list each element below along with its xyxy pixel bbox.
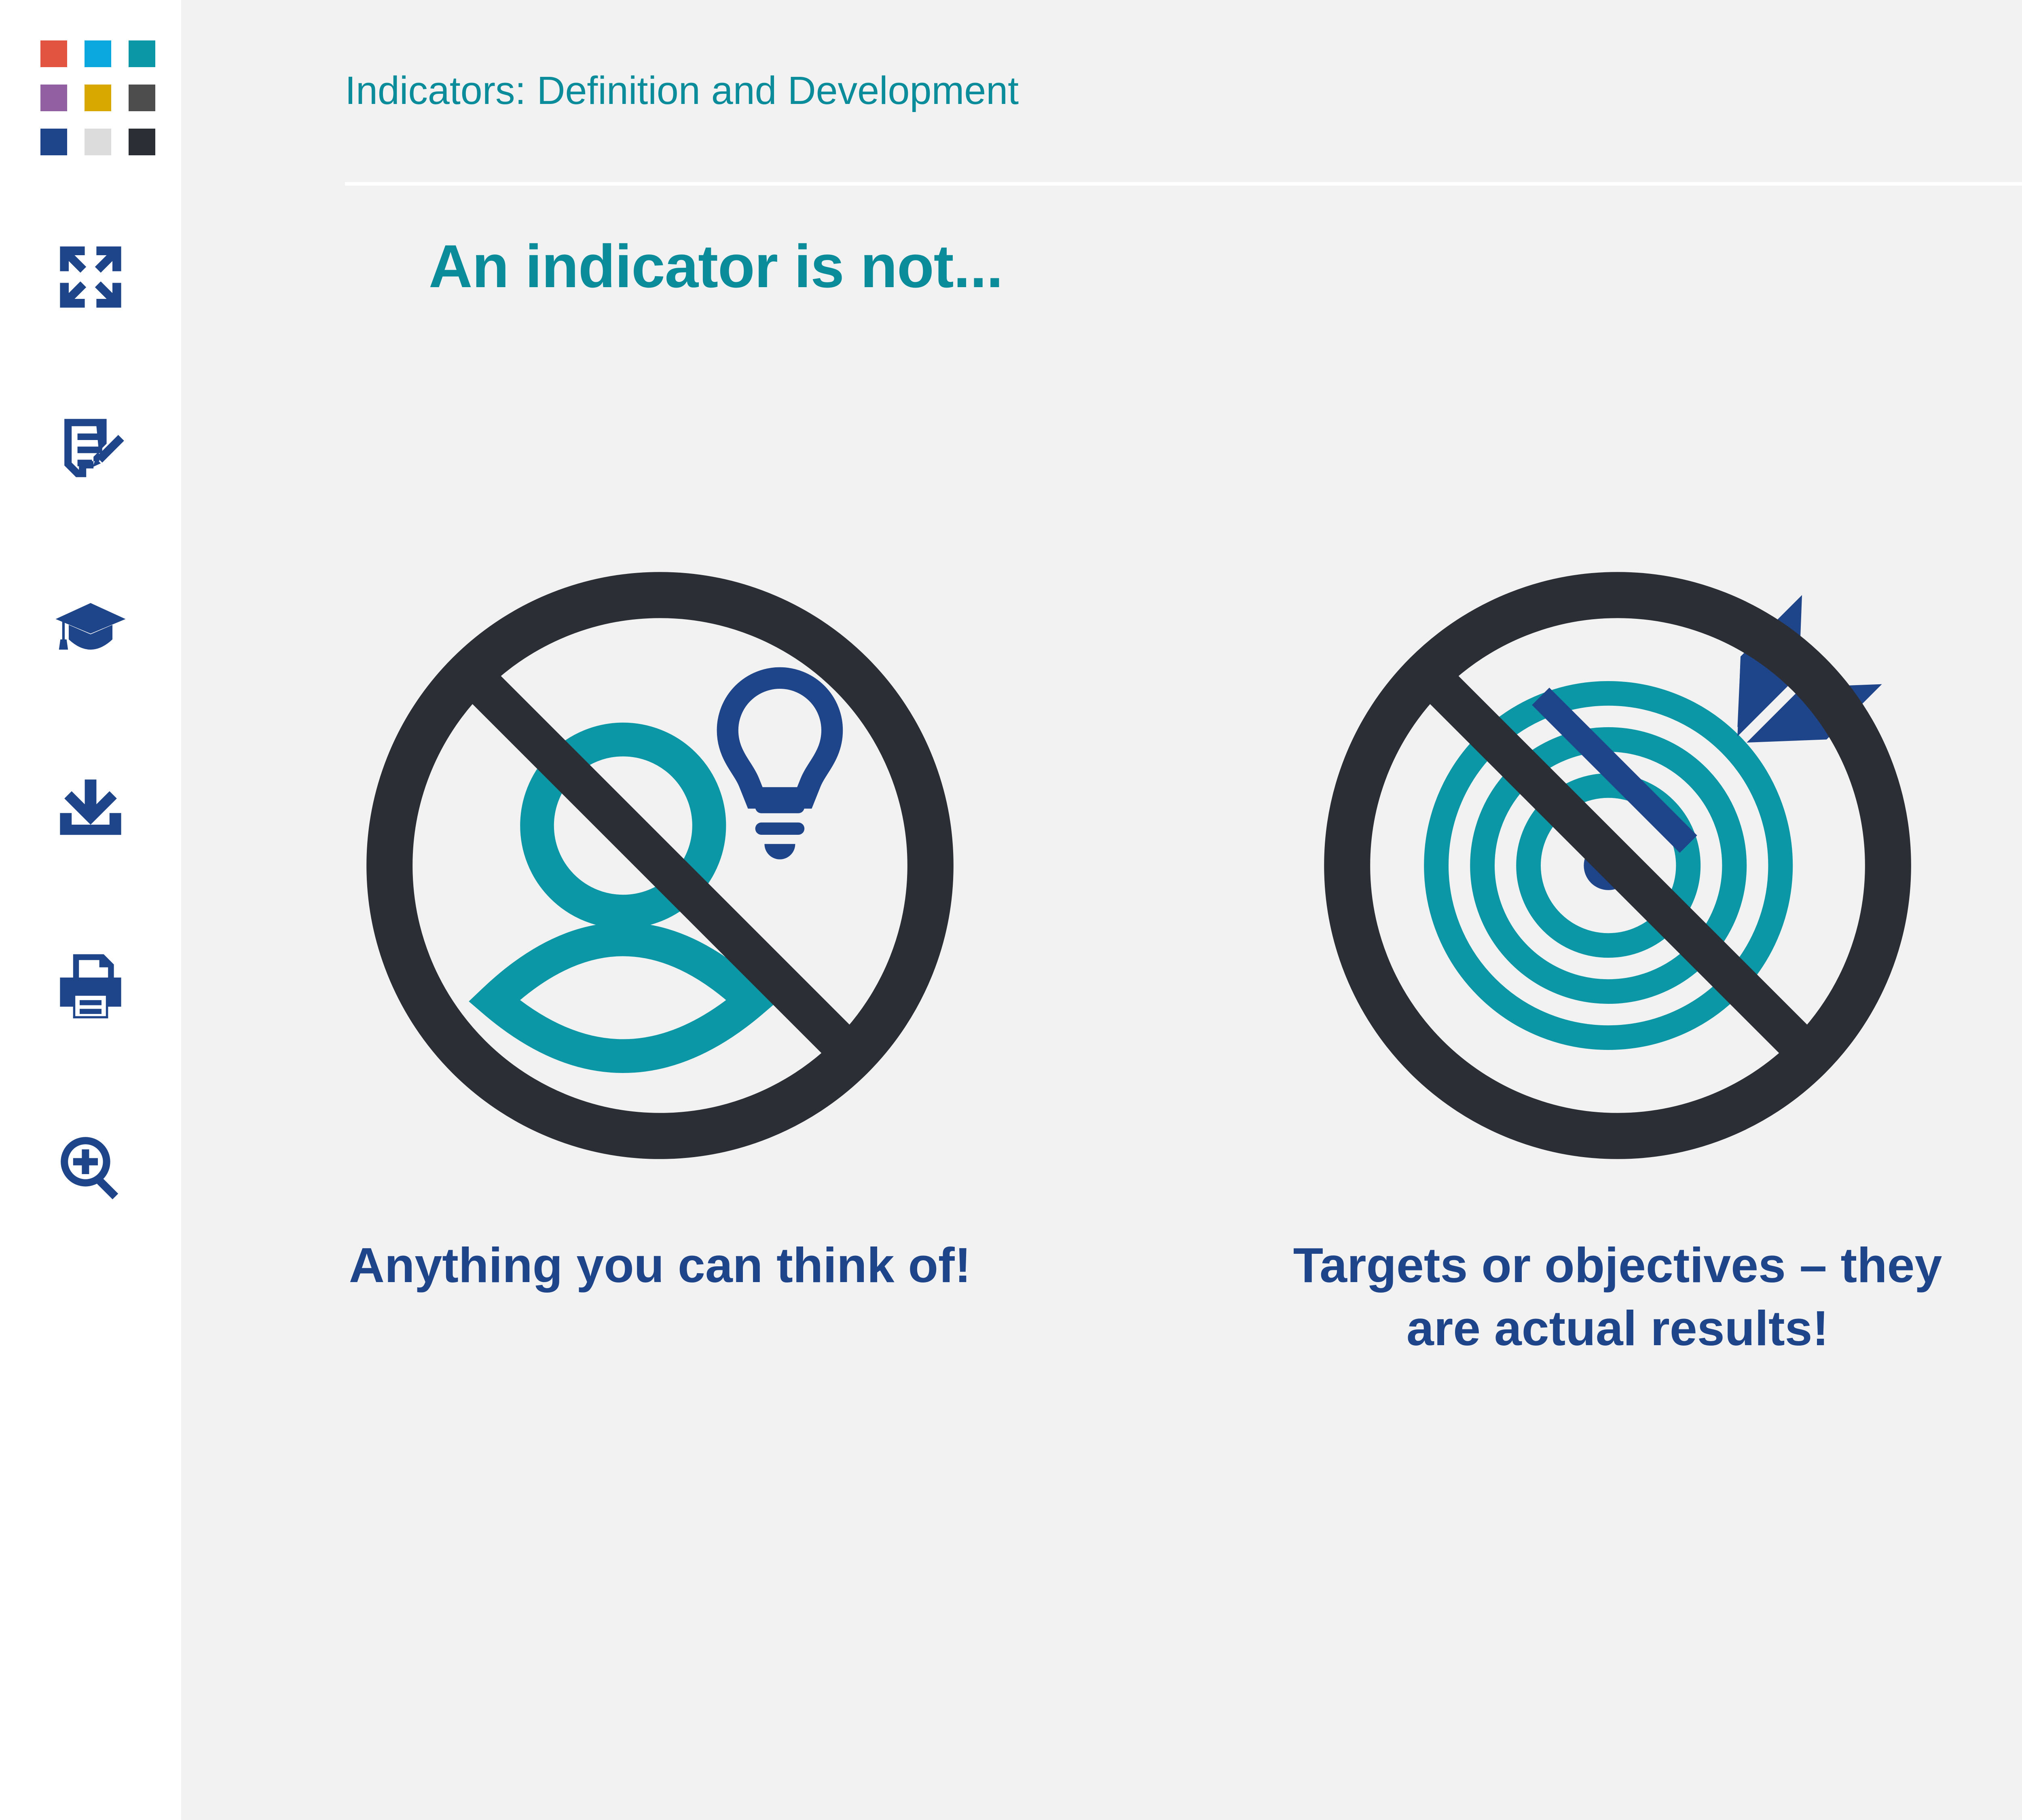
slide-viewer-app: Indicators: Definition and Development S… (0, 0, 2022, 1820)
tool-button-download[interactable] (0, 756, 181, 849)
logo-swatch-1 (85, 40, 111, 67)
tool-button-course[interactable] (0, 578, 181, 671)
logo-swatch-5 (129, 85, 155, 111)
magnifier-plus-icon (54, 1130, 127, 1203)
download-icon (54, 766, 127, 839)
tool-button-fullscreen[interactable] (0, 231, 181, 324)
tool-button-zoom-in[interactable] (0, 1120, 181, 1213)
breadcrumb[interactable]: Indicators: Definition and Development (345, 71, 1019, 110)
logo-swatch-4 (85, 85, 111, 111)
card-caption: Anything you can think of! (349, 1234, 971, 1297)
tool-button-notes[interactable] (0, 404, 181, 497)
fullscreen-icon (54, 241, 127, 313)
document-pencil-icon (54, 415, 127, 487)
printer-icon (54, 948, 127, 1021)
logo-swatch-6 (40, 129, 67, 155)
slide-header: Indicators: Definition and Development S… (181, 0, 2022, 186)
tool-button-print[interactable] (0, 938, 181, 1031)
page-title: An indicator is not... (429, 235, 1003, 298)
header-divider (345, 182, 2022, 186)
card-anything-you-can-think-of: Anything you can think of! (181, 558, 1139, 1610)
no-target-dart-icon (1310, 558, 1925, 1173)
graduation-cap-icon (54, 588, 127, 661)
header-inner: Indicators: Definition and Development S… (345, 0, 2022, 186)
logo-swatch-3 (40, 85, 67, 111)
logo-swatch-7 (85, 129, 111, 155)
card-targets-or-objectives: Targets or objectives – they are actual … (1139, 558, 2022, 1610)
card-row: Anything you can think of! (181, 558, 2022, 1610)
card-caption: Targets or objectives – they are actual … (1274, 1234, 1961, 1360)
no-person-lightbulb-icon (353, 558, 967, 1173)
logo-swatch-8 (129, 129, 155, 155)
logo-swatch-2 (129, 40, 155, 67)
tool-rail (0, 0, 181, 1820)
logo-swatch-0 (40, 40, 67, 67)
color-grid-logo (40, 40, 155, 155)
